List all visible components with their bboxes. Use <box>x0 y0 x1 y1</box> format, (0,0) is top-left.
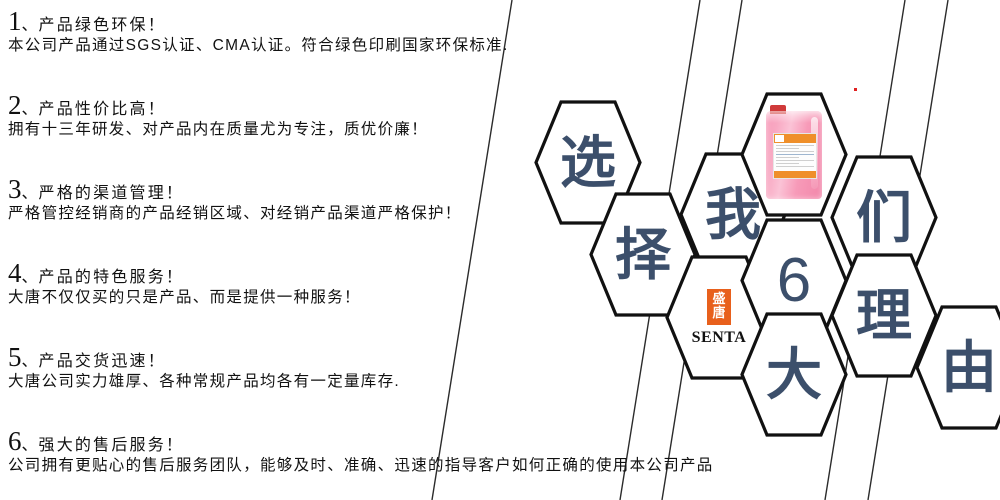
honeycomb-graphic: 选 择 我 盛 唐 SENTA <box>0 0 1000 500</box>
hexagon-outline <box>915 305 1000 430</box>
hex-cell-you[interactable]: 由 <box>915 305 1000 430</box>
promo-banner: 1 、 产品绿色环保！ 本公司产品通过SGS认证、CMA认证。符合绿色印刷国家环… <box>0 0 1000 500</box>
